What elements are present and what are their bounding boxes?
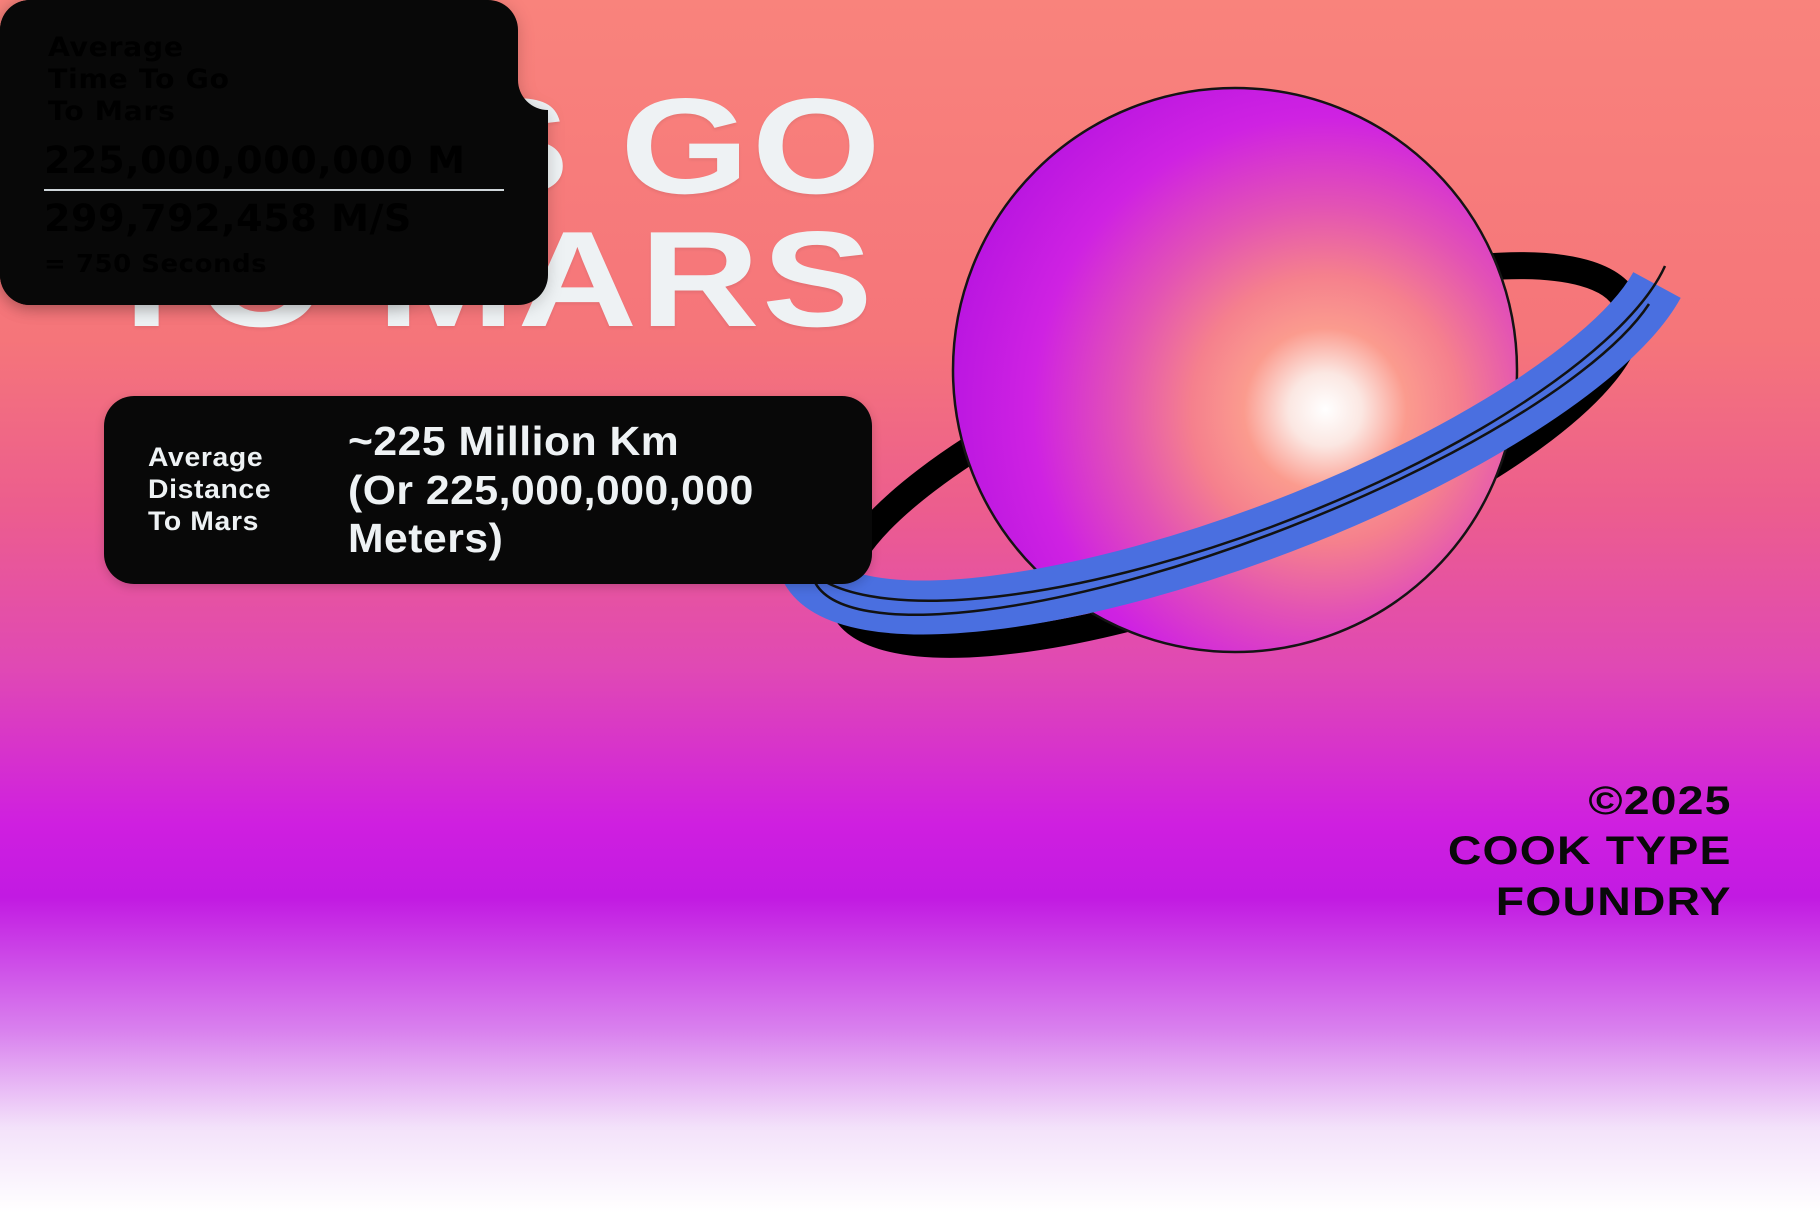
foundry-name-line-1: COOK TYPE: [1448, 826, 1732, 876]
card-time-label-line-3: To Mars: [48, 96, 230, 128]
card-distance-value: ~225 Million Km (Or 225,000,000,000 Mete…: [348, 417, 754, 562]
fraction-rule: [44, 189, 504, 191]
fraction-numerator: 225,000,000,000 M: [44, 140, 528, 182]
card-time-label: Average Time To Go To Mars: [48, 32, 230, 128]
card-average-distance: Average Distance To Mars ~225 Million Km…: [104, 396, 872, 584]
card-time-fraction: 225,000,000,000 M 299,792,458 M/S = 750 …: [44, 140, 514, 278]
fraction-denominator: 299,792,458 M/S: [44, 198, 528, 240]
planet-illustration: [905, 60, 1665, 760]
card-distance-value-line-1: ~225 Million Km: [348, 417, 754, 465]
poster-canvas: LET'S GO TO MARS: [0, 0, 1820, 1213]
card-distance-label-line-1: Average: [148, 442, 358, 474]
card-distance-label-line-3: To Mars: [148, 506, 358, 538]
foundry-copyright-year: ©2025: [1448, 776, 1732, 826]
card-distance-label-line-2: Distance: [148, 474, 358, 506]
card-distance-label: Average Distance To Mars: [148, 442, 358, 538]
planet-svg: [905, 60, 1665, 760]
foundry-credit: ©2025 COOK TYPE FOUNDRY: [1448, 776, 1732, 927]
fraction-result: = 750 Seconds: [44, 249, 533, 278]
card-distance-value-line-3: Meters): [348, 514, 754, 562]
foundry-name-line-2: FOUNDRY: [1448, 877, 1732, 927]
card-time-label-line-1: Average: [48, 32, 230, 64]
card-distance-value-line-2: (Or 225,000,000,000: [348, 466, 754, 514]
card-time-label-line-2: Time To Go: [48, 64, 230, 96]
